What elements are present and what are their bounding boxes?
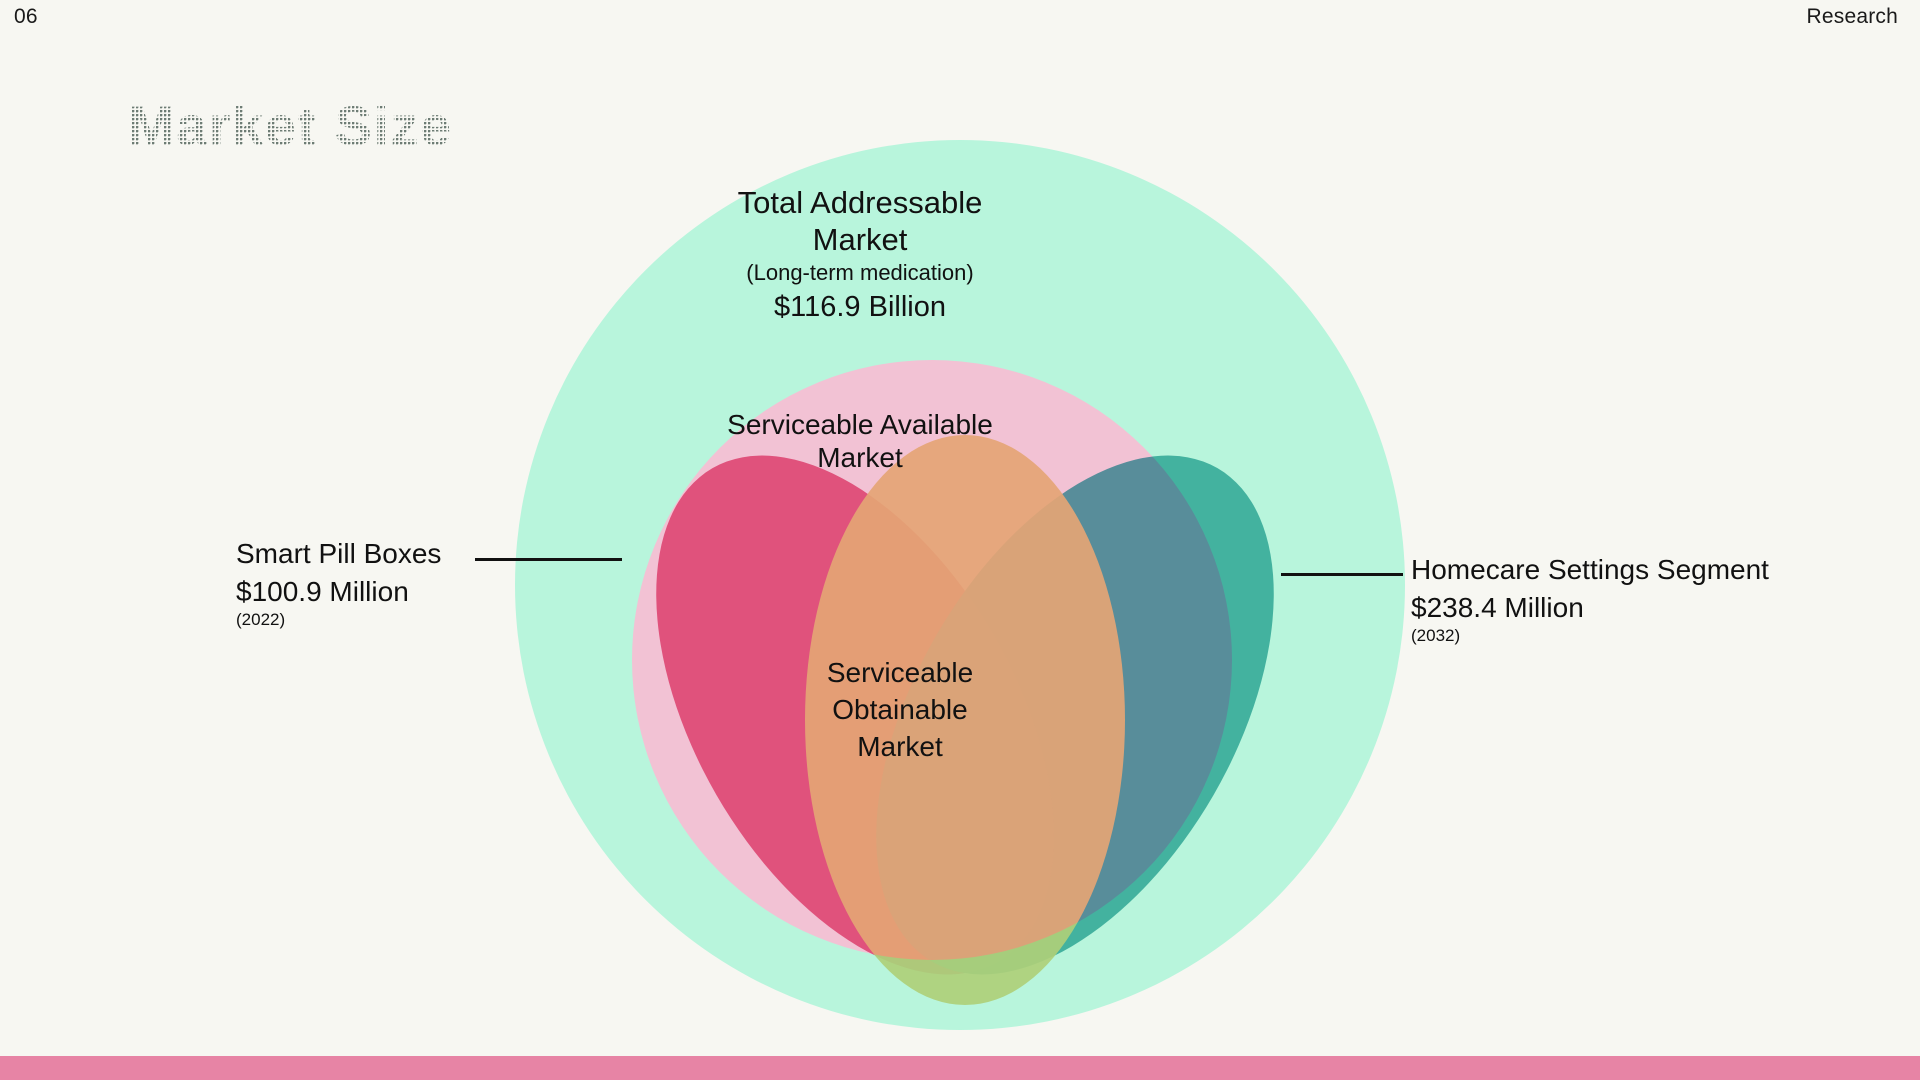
annotation-right-name: Homecare Settings Segment — [1411, 553, 1769, 586]
page-number: 06 — [14, 5, 38, 29]
annotation-left-name: Smart Pill Boxes — [236, 537, 441, 570]
tam-qualifier: (Long-term medication) — [660, 260, 1060, 286]
venn-label-tam: Total Addressable Market (Long-term medi… — [660, 185, 1060, 324]
slide: 06 Research Market Size Total Addressabl… — [0, 0, 1920, 1080]
page-title: Market Size — [128, 98, 453, 154]
annotation-left-value: $100.9 Million — [236, 574, 441, 609]
annotation-right-value: $238.4 Million — [1411, 590, 1769, 625]
annotation-left: Smart Pill Boxes $100.9 Million (2022) — [236, 537, 441, 630]
leader-line-left — [475, 558, 622, 561]
footer-bar — [0, 1056, 1920, 1080]
venn-label-sam: Serviceable Available Market — [680, 408, 1040, 474]
som-title-line3: Market — [775, 729, 1025, 766]
som-title-line2: Obtainable — [775, 692, 1025, 729]
som-title-line1: Serviceable — [775, 655, 1025, 692]
venn-label-som: Serviceable Obtainable Market — [775, 655, 1025, 766]
annotation-right: Homecare Settings Segment $238.4 Million… — [1411, 553, 1769, 646]
annotation-left-year: (2022) — [236, 610, 441, 630]
leader-line-right — [1281, 573, 1403, 576]
section-label: Research — [1807, 5, 1898, 29]
sam-title-line1: Serviceable Available — [680, 408, 1040, 441]
sam-title-line2: Market — [680, 441, 1040, 474]
tam-title-line2: Market — [660, 222, 1060, 259]
tam-value: $116.9 Billion — [660, 290, 1060, 324]
tam-title-line1: Total Addressable — [660, 185, 1060, 222]
annotation-right-year: (2032) — [1411, 626, 1769, 646]
